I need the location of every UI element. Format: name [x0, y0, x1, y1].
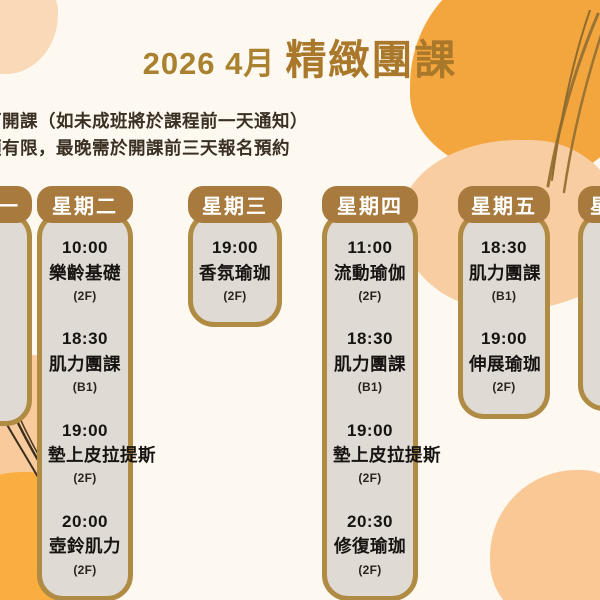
schedule-column-2: 星期二10:00樂齡基礎(2F)18:30肌力團課(B1)19:00墊上皮拉提斯… — [37, 186, 133, 600]
schedule-column-1: 星期一 — [0, 186, 32, 426]
day-header-pill[interactable]: 星期四 — [322, 186, 418, 223]
title-main: 精緻團課 — [285, 26, 457, 86]
class-slot[interactable]: 19:00香氛瑜珈(2F) — [199, 235, 271, 306]
class-room: (2F) — [48, 468, 122, 488]
class-slot[interactable]: 19:00伸展瑜珈(2F) — [469, 326, 539, 397]
class-time: 10:00 — [48, 235, 122, 261]
day-card: 18:30肌力團課(B1)19:00伸展瑜珈(2F) — [458, 211, 550, 419]
class-slot[interactable]: 20:00壺鈴肌力(2F) — [48, 509, 122, 580]
class-time: 19:00 — [333, 418, 407, 444]
class-name: 肌力團課 — [469, 261, 539, 286]
class-slot[interactable]: 18:30肌力團課(B1) — [333, 326, 407, 397]
day-header-label: 星期四 — [337, 190, 403, 219]
day-header-pill[interactable]: 星期二 — [37, 186, 133, 223]
class-slot[interactable]: 10:00樂齡基礎(2F) — [48, 235, 122, 306]
class-time: 18:30 — [48, 326, 122, 352]
day-header-pill[interactable]: 星期三 — [188, 186, 282, 223]
class-slot[interactable]: 19:00墊上皮拉提斯(2F) — [333, 418, 407, 489]
class-room: (B1) — [48, 377, 122, 397]
class-slot[interactable]: 20:30修復瑜珈(2F) — [333, 509, 407, 580]
day-header-pill[interactable]: 星期一 — [0, 186, 32, 223]
day-header-pill[interactable]: 星期六 — [578, 186, 600, 223]
day-card: 19:00香氛瑜珈(2F) — [188, 211, 282, 327]
class-name: 墊上皮拉提斯 — [48, 443, 122, 468]
day-card: 11:00流動瑜伽(2F)18:30肌力團課(B1)19:00墊上皮拉提斯(2F… — [322, 211, 418, 600]
class-slot[interactable]: 18:30肌力團課(B1) — [469, 235, 539, 306]
class-name: 香氛瑜珈 — [199, 261, 271, 286]
class-time: 19:00 — [199, 235, 271, 261]
schedule-column-4: 星期四11:00流動瑜伽(2F)18:30肌力團課(B1)19:00墊上皮拉提斯… — [322, 186, 418, 600]
class-time: 11:00 — [333, 235, 407, 261]
class-name: 樂齡基礎 — [48, 261, 122, 286]
day-header-label: 星期二 — [52, 190, 118, 219]
class-time: 20:30 — [333, 509, 407, 535]
page-title: 2026 4月 精緻團課 — [143, 26, 458, 86]
class-name: 壺鈴肌力 — [48, 534, 122, 559]
class-room: (B1) — [469, 286, 539, 306]
day-card — [0, 211, 32, 426]
class-name: 墊上皮拉提斯 — [333, 443, 407, 468]
class-time: 19:00 — [469, 326, 539, 352]
day-card: 10:00樂齡基礎(2F)18:30肌力團課(B1)19:00墊上皮拉提斯(2F… — [37, 211, 133, 600]
class-room: (2F) — [469, 377, 539, 397]
day-header-label: 星期三 — [202, 190, 268, 219]
class-name: 流動瑜伽 — [333, 261, 407, 286]
schedule-column-3: 星期三19:00香氛瑜珈(2F) — [188, 186, 282, 327]
class-time: 19:00 — [48, 418, 122, 444]
class-name: 伸展瑜珈 — [469, 352, 539, 377]
day-header-label: 星期一 — [0, 190, 20, 219]
subtitle-block: 即可開課（如未成班將於課程前一天通知） 名額有限，最晚需於開課前三天報名預約 — [0, 108, 308, 162]
class-slot[interactable]: 11:00流動瑜伽(2F) — [333, 235, 407, 306]
class-slot[interactable]: 19:00墊上皮拉提斯(2F) — [48, 418, 122, 489]
day-header-label: 星期五 — [471, 190, 537, 219]
class-name: 肌力團課 — [333, 352, 407, 377]
subtitle-line-2: 名額有限，最晚需於開課前三天報名預約 — [0, 135, 308, 162]
subtitle-line-1: 即可開課（如未成班將於課程前一天通知） — [0, 108, 308, 135]
schedule-column-6: 星期六 — [578, 186, 600, 411]
day-header-label: 星期六 — [590, 190, 600, 219]
day-header-pill[interactable]: 星期五 — [458, 186, 550, 223]
poster-canvas: 2026 4月 精緻團課 即可開課（如未成班將於課程前一天通知） 名額有限，最晚… — [0, 0, 600, 600]
class-room: (2F) — [48, 286, 122, 306]
title-year-month: 2026 4月 — [143, 38, 276, 83]
class-room: (2F) — [199, 286, 271, 306]
class-room: (2F) — [333, 286, 407, 306]
class-name: 修復瑜珈 — [333, 534, 407, 559]
class-room: (2F) — [333, 560, 407, 580]
schedule-grid: 星期一星期二10:00樂齡基礎(2F)18:30肌力團課(B1)19:00墊上皮… — [0, 186, 600, 600]
day-card — [578, 211, 600, 411]
class-room: (2F) — [48, 560, 122, 580]
class-name: 肌力團課 — [48, 352, 122, 377]
class-room: (B1) — [333, 377, 407, 397]
poster-header: 2026 4月 精緻團課 — [0, 26, 600, 86]
class-room: (2F) — [333, 468, 407, 488]
class-slot[interactable]: 18:30肌力團課(B1) — [48, 326, 122, 397]
class-time: 18:30 — [469, 235, 539, 261]
class-time: 18:30 — [333, 326, 407, 352]
schedule-column-5: 星期五18:30肌力團課(B1)19:00伸展瑜珈(2F) — [458, 186, 550, 419]
class-time: 20:00 — [48, 509, 122, 535]
